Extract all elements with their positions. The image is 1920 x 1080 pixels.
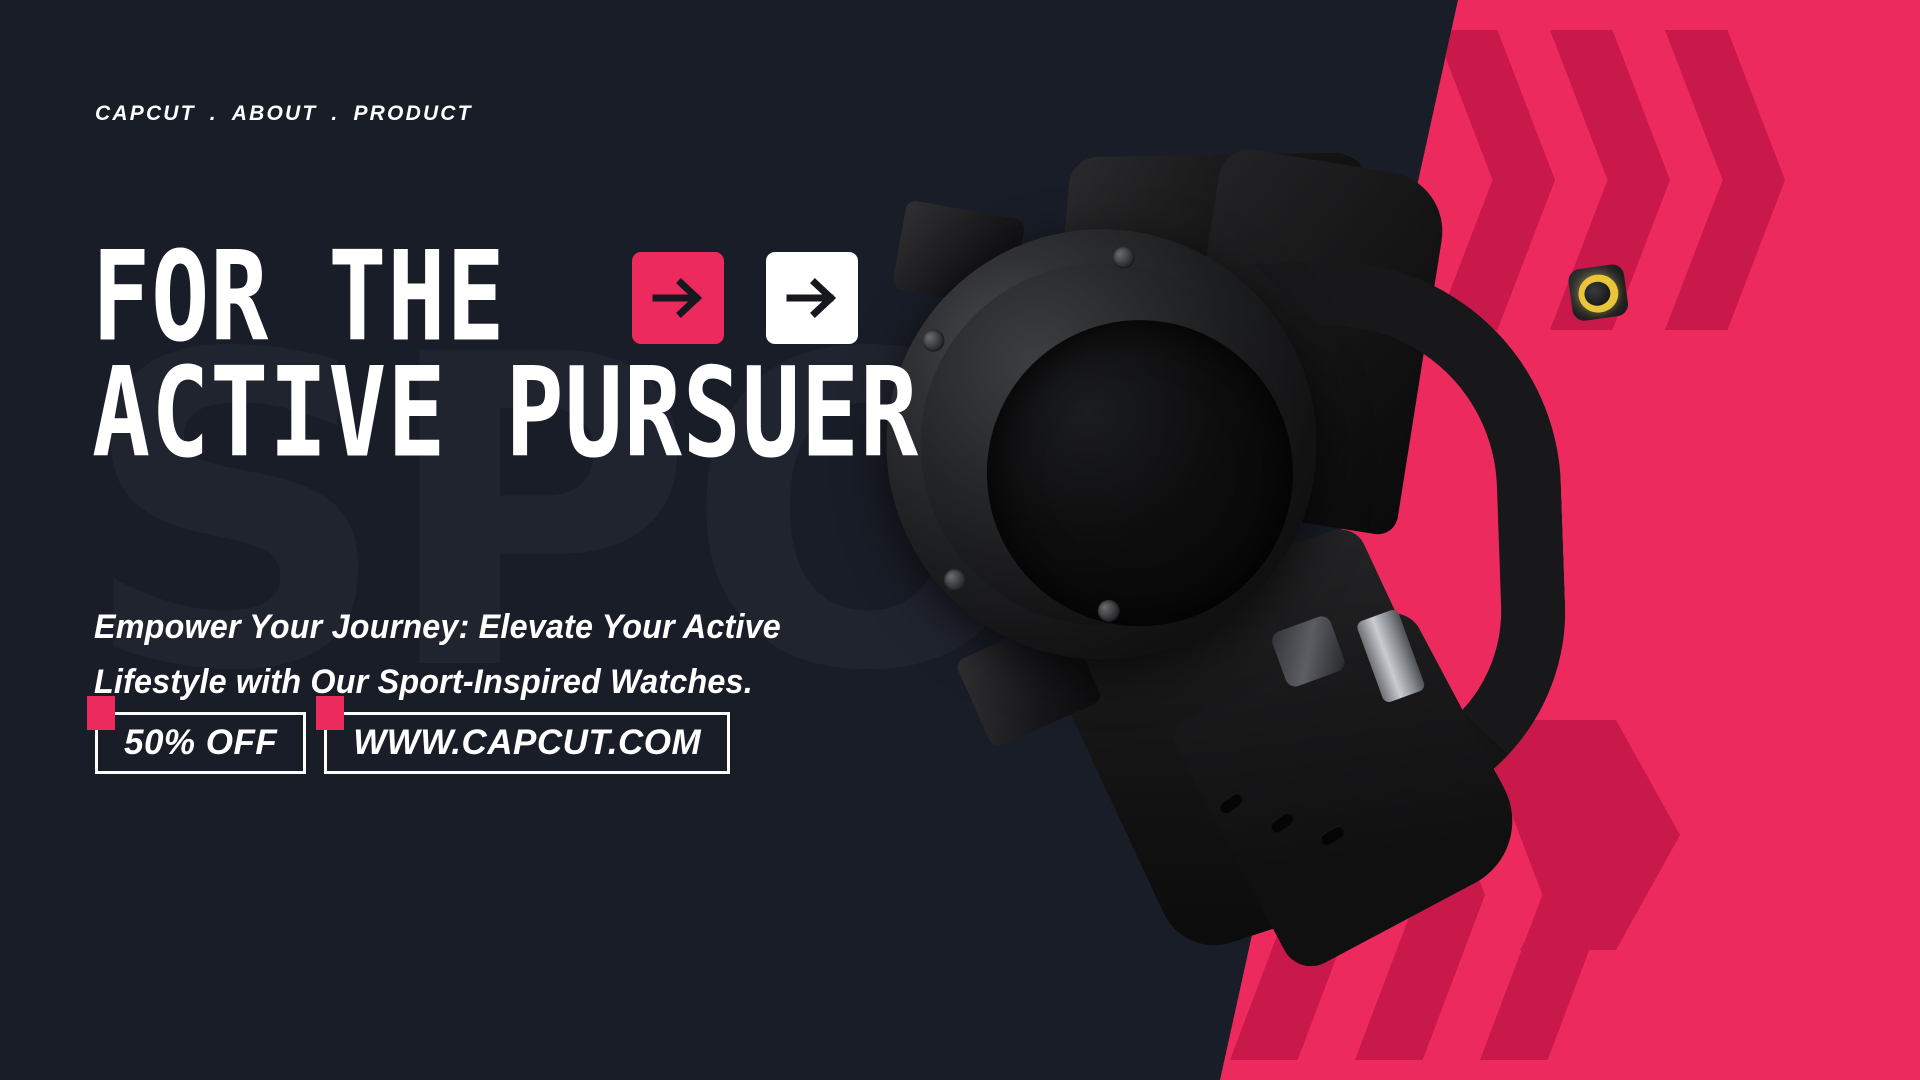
arrow-right-icon: [784, 270, 840, 326]
nav-separator-dot: .: [317, 102, 353, 126]
cta-arrow-button-primary[interactable]: [632, 252, 724, 344]
badge-corner-marker: [87, 696, 115, 730]
nav-item-product[interactable]: PRODUCT: [353, 102, 472, 126]
top-navigation: CAPCUT . ABOUT . PRODUCT: [95, 102, 473, 126]
arrow-right-icon: [650, 270, 706, 326]
headline-line-1: FOR THE: [92, 239, 506, 357]
discount-badge-wrapper: 50% OFF: [95, 712, 306, 774]
subheading-line-2: Lifestyle with Our Sport-Inspired Watche…: [94, 655, 781, 710]
headline-block: FOR THE ACTIVE PURSUER: [92, 248, 991, 464]
nav-separator-dot: .: [196, 102, 232, 126]
cta-arrow-button-secondary[interactable]: [766, 252, 858, 344]
nav-item-capcut[interactable]: CAPCUT: [95, 102, 196, 126]
headline-line-2: ACTIVE PURSUER: [92, 355, 919, 473]
website-badge-wrapper: WWW.CAPCUT.COM: [324, 712, 730, 774]
nav-item-about[interactable]: ABOUT: [232, 102, 318, 126]
discount-badge[interactable]: 50% OFF: [95, 712, 306, 774]
website-badge[interactable]: WWW.CAPCUT.COM: [324, 712, 730, 774]
promo-banner: SPO: [0, 0, 1920, 1080]
subheading-block: Empower Your Journey: Elevate Your Activ…: [94, 600, 781, 710]
cta-arrow-group: [632, 252, 858, 344]
subheading-line-1: Empower Your Journey: Elevate Your Activ…: [94, 600, 781, 655]
badge-corner-marker: [316, 696, 344, 730]
footer-badge-group: 50% OFF WWW.CAPCUT.COM: [95, 712, 730, 774]
